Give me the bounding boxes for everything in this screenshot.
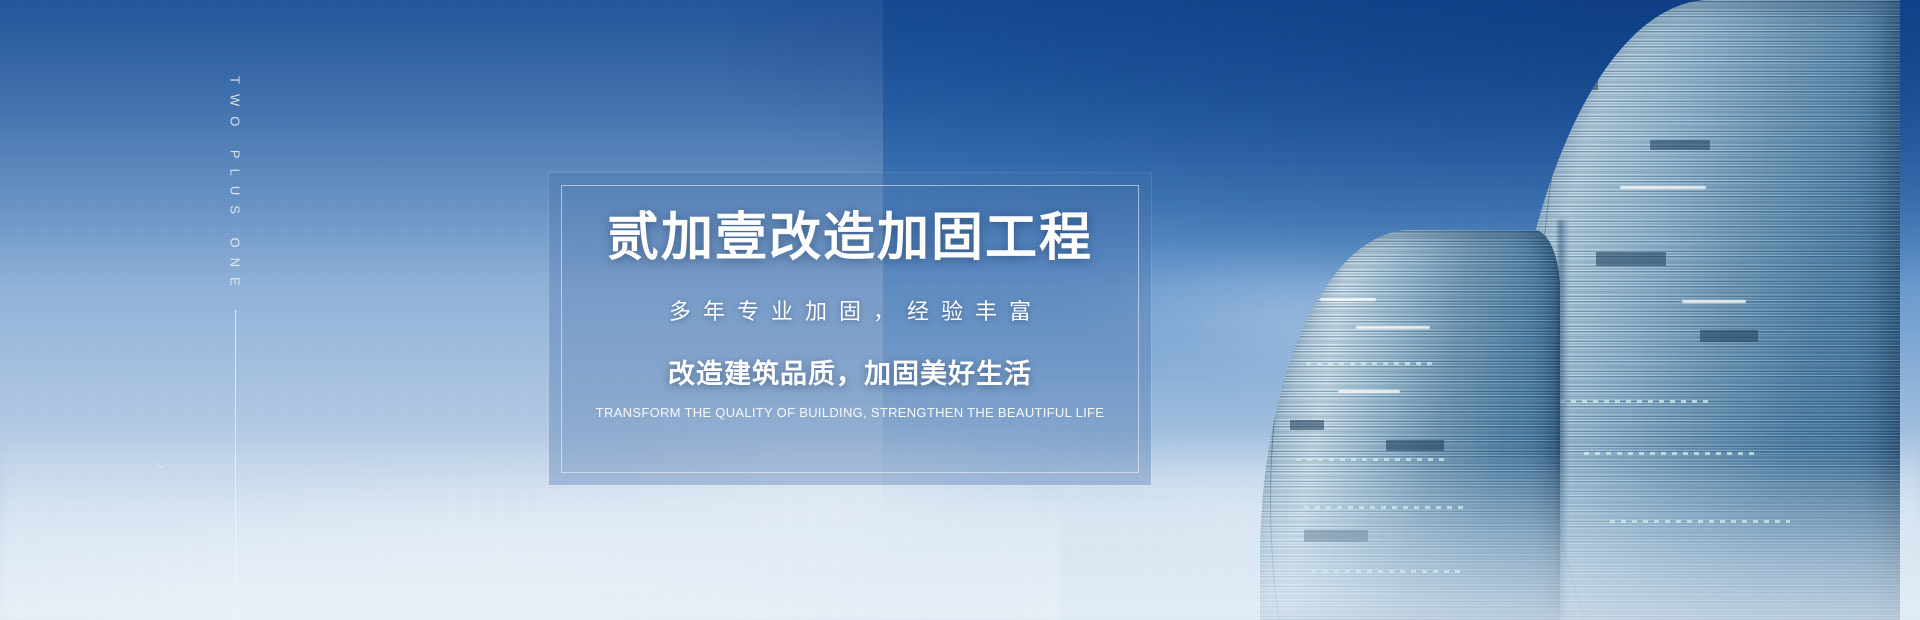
panel-content: 贰加壹改造加固工程 多年专业加固，经验丰富 改造建筑品质，加固美好生活 TRAN… — [549, 173, 1151, 485]
page-title: 贰加壹改造加固工程 — [607, 211, 1093, 266]
tower-window-panel — [1650, 140, 1710, 150]
tower-lit-windows-row — [1306, 362, 1432, 365]
tower-glass-glint — [1682, 300, 1746, 303]
tower-window-panel — [1596, 252, 1666, 266]
hero-text-panel: 贰加壹改造加固工程 多年专业加固，经验丰富 改造建筑品质，加固美好生活 TRAN… — [549, 173, 1151, 485]
hero-tagline-chinese: 改造建筑品质，加固美好生活 — [668, 352, 1032, 391]
tower-glass-glint — [1338, 390, 1400, 393]
tower-glass-glint — [1356, 326, 1430, 329]
vertical-brand-text: TWO PLUS ONE — [229, 70, 242, 296]
vertical-divider-line — [235, 310, 236, 620]
corner-watermark: J — [153, 463, 165, 470]
tower-separation-gap — [1558, 220, 1568, 620]
tower-lit-windows-row — [1584, 452, 1754, 455]
tower-lit-windows-row — [1560, 400, 1710, 403]
skyscraper-front-tower — [1260, 230, 1560, 620]
tower-window-panel — [1700, 330, 1758, 342]
tower-window-panel — [1552, 78, 1598, 90]
skyscraper-group — [1060, 0, 1920, 620]
tower-lit-windows-row — [1312, 570, 1462, 573]
tower-lit-windows-row — [1610, 520, 1790, 523]
tower-window-panel — [1386, 440, 1444, 451]
tower-glass-glint — [1620, 186, 1706, 189]
hero-subheading: 多年专业加固，经验丰富 — [657, 294, 1043, 326]
tower-lit-windows-row — [1296, 458, 1446, 461]
tower-window-panel — [1304, 530, 1368, 542]
hero-banner: TWO PLUS ONE J 贰加壹改造加固工程 多年专业加固，经验丰富 改造建… — [0, 0, 1920, 620]
vertical-brand-rail: TWO PLUS ONE J — [222, 70, 248, 620]
hero-tagline-english: TRANSFORM THE QUALITY OF BUILDING, STREN… — [596, 405, 1104, 420]
tower-glass-glint — [1320, 298, 1376, 301]
tower-window-panel — [1290, 420, 1324, 430]
tower-lit-windows-row — [1304, 506, 1464, 509]
